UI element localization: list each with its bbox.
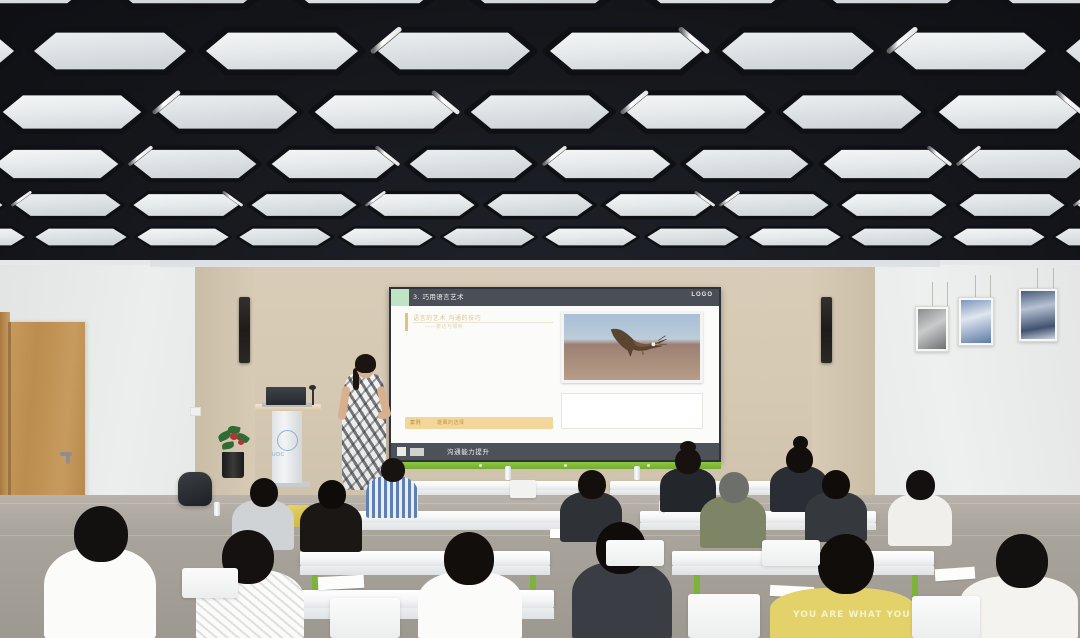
hex-ceiling bbox=[0, 0, 1080, 260]
slide-footer-icon-2 bbox=[410, 448, 424, 456]
desk-row-3-right-apron bbox=[672, 566, 934, 575]
presenter-hand bbox=[378, 412, 387, 419]
slide-footer-text: 沟通能力提升 bbox=[447, 446, 490, 456]
wall-speaker-left bbox=[239, 297, 250, 363]
wall-speaker-right bbox=[821, 297, 832, 363]
slide-tag-bar bbox=[405, 417, 553, 429]
slide-bullet-primary: 语言的艺术 沟通的技巧 bbox=[413, 313, 481, 322]
framed-photo-1-image bbox=[918, 309, 946, 349]
desk-row-3-left bbox=[300, 551, 550, 566]
strip-dot-2 bbox=[564, 464, 567, 467]
hex-ceiling-svg bbox=[0, 0, 1080, 260]
desk-row-3-left-apron bbox=[300, 566, 550, 575]
wall-back-wood-right-shade bbox=[812, 255, 875, 505]
eagle-icon bbox=[597, 326, 676, 362]
slide-tag-label: 案例 bbox=[410, 419, 421, 426]
laptop-screen[interactable] bbox=[266, 387, 306, 405]
lectern-emblem-text: UOC bbox=[272, 452, 285, 458]
framed-photo-2 bbox=[958, 297, 994, 346]
desk-row-5-left-apron bbox=[402, 490, 578, 495]
chair-back-4 bbox=[606, 540, 664, 566]
slide-title: 3. 巧用语言艺术 bbox=[413, 291, 464, 301]
presenter-hair bbox=[355, 354, 376, 373]
slide-bullet-secondary: ——表达与倾听 bbox=[425, 323, 464, 330]
water-bottle-2 bbox=[634, 466, 640, 480]
frame-cord-1 bbox=[932, 282, 948, 308]
chair-back-6 bbox=[182, 568, 238, 598]
chair-back-3 bbox=[912, 596, 980, 638]
water-bottle-3 bbox=[214, 502, 220, 516]
chair-back-5 bbox=[762, 540, 820, 566]
door-handle-shaft bbox=[66, 452, 70, 464]
slide-logo: LOGO bbox=[691, 292, 713, 298]
chair-back-1 bbox=[330, 598, 400, 638]
lectern-emblem-icon bbox=[277, 430, 298, 451]
frame-cord-3 bbox=[1037, 268, 1054, 290]
slide-footer-icon-1 bbox=[397, 447, 406, 456]
strip-dot-3 bbox=[647, 464, 650, 467]
framed-photo-2-image bbox=[961, 300, 991, 343]
chair-back-2 bbox=[688, 594, 760, 638]
backpack bbox=[178, 472, 212, 506]
water-bottle-1 bbox=[505, 466, 511, 480]
slide-title-accent bbox=[391, 289, 409, 306]
presentation-slide[interactable]: 3. 巧用语言艺术 LOGO 语言的艺术 沟通的技巧 ——表达与倾听 案例 雄鹰… bbox=[391, 289, 719, 460]
slide-note-box bbox=[561, 393, 703, 429]
frame-cord-2 bbox=[975, 275, 991, 299]
desk-row-4-left-apron bbox=[356, 523, 571, 530]
tissue-box bbox=[510, 480, 536, 498]
slide-bullet-accent bbox=[405, 313, 408, 331]
slide-tag-value: 雄鹰的选择 bbox=[437, 419, 465, 426]
light-switch[interactable] bbox=[190, 407, 201, 416]
slide-footer-bar bbox=[391, 443, 719, 460]
slide-photo-eagle bbox=[564, 314, 700, 380]
plant-pot bbox=[222, 452, 244, 478]
paper-sheet-3 bbox=[318, 575, 365, 590]
strip-dot-1 bbox=[479, 464, 482, 467]
classroom-scene: 3. 巧用语言艺术 LOGO 语言的艺术 沟通的技巧 ——表达与倾听 案例 雄鹰… bbox=[0, 0, 1080, 638]
microphone-head bbox=[309, 385, 316, 390]
framed-photo-1 bbox=[915, 306, 949, 352]
framed-photo-3 bbox=[1018, 288, 1058, 342]
microphone-stem bbox=[312, 388, 314, 405]
framed-photo-3-image bbox=[1021, 291, 1055, 339]
desk-row-5-left bbox=[402, 481, 578, 490]
slide-photo-frame bbox=[561, 311, 703, 383]
screen-green-strip bbox=[389, 462, 721, 469]
